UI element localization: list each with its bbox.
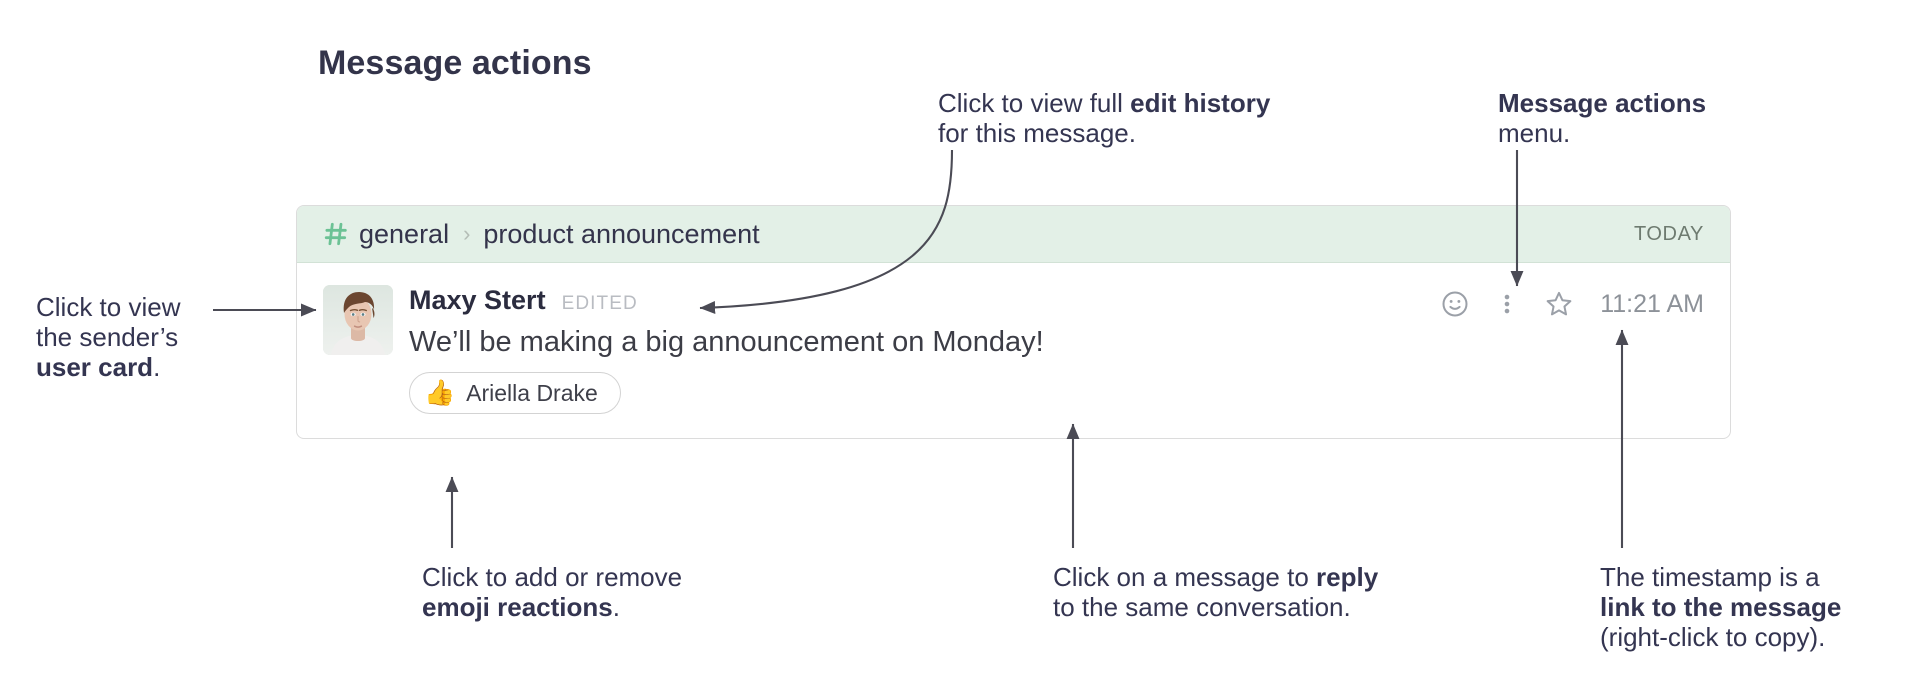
annotation-emphasis: edit history [1130,88,1270,118]
annotation-emphasis: Message actions [1498,88,1706,118]
channel-breadcrumb-header: general › product announcement TODAY [297,206,1730,263]
annotation-timestamp: The timestamp is a link to the message (… [1600,562,1841,652]
annotation-line: for this message. [938,118,1270,148]
annotation-line: to the same conversation. [1053,592,1378,622]
annotation-actions-menu: Message actions menu. [1498,88,1706,148]
annotation-line: Click to add or remove [422,562,682,592]
annotation-line: user card. [36,352,180,382]
annotation-emphasis: emoji reactions [422,592,613,622]
message-actions-menu-icon[interactable] [1492,289,1522,319]
edited-badge[interactable]: EDITED [562,293,638,315]
annotation-text: . [153,352,160,382]
chevron-right-icon: › [463,223,470,245]
annotation-emoji-reactions: Click to add or remove emoji reactions. [422,562,682,622]
annotation-line: Click to view full edit history [938,88,1270,118]
avatar-photo [323,285,393,355]
emoji-reaction-icon[interactable] [1440,289,1470,319]
annotation-emphasis: user card [36,352,153,382]
annotation-emphasis: link to the message [1600,592,1841,622]
annotation-line: Click to view [36,292,180,322]
annotated-screenshot: Message actions Click to view full edit … [0,0,1924,696]
annotation-text: . [613,592,620,622]
annotation-text: Click to view full [938,88,1130,118]
reaction-label: Ariella Drake [466,380,598,407]
annotation-line: the sender’s [36,322,180,352]
avatar[interactable] [323,285,393,355]
annotation-emphasis: reply [1316,562,1378,592]
breadcrumb-topic[interactable]: product announcement [483,219,759,250]
annotation-text: Click on a message to [1053,562,1316,592]
message-actions-bar: 11:21 AM [1440,289,1704,319]
annotation-line: (right-click to copy). [1600,622,1841,652]
day-divider-label: TODAY [1634,223,1704,246]
thumbs-up-emoji: 👍 [424,381,455,406]
message-card: general › product announcement TODAY [296,205,1731,439]
annotation-line: Click on a message to reply [1053,562,1378,592]
breadcrumb-channel[interactable]: general [359,219,449,250]
sender-name[interactable]: Maxy Stert [409,285,546,316]
star-icon[interactable] [1544,289,1574,319]
annotation-line: Message actions [1498,88,1706,118]
message-text[interactable]: We’ll be making a big announcement on Mo… [409,326,1704,359]
page-title: Message actions [318,44,592,83]
hash-icon [323,221,349,247]
reaction-pill[interactable]: 👍 Ariella Drake [409,372,621,414]
annotation-edit-history: Click to view full edit history for this… [938,88,1270,148]
annotation-line: menu. [1498,118,1706,148]
annotation-reply: Click on a message to reply to the same … [1053,562,1378,622]
message-row[interactable]: Maxy Stert EDITED We’ll be making a big … [297,263,1730,438]
message-timestamp-link[interactable]: 11:21 AM [1600,290,1704,319]
annotation-line: link to the message [1600,592,1841,622]
annotation-line: emoji reactions. [422,592,682,622]
reaction-row: 👍 Ariella Drake [409,372,1704,414]
annotation-line: The timestamp is a [1600,562,1841,592]
annotation-user-card: Click to view the sender’s user card. [36,292,180,382]
